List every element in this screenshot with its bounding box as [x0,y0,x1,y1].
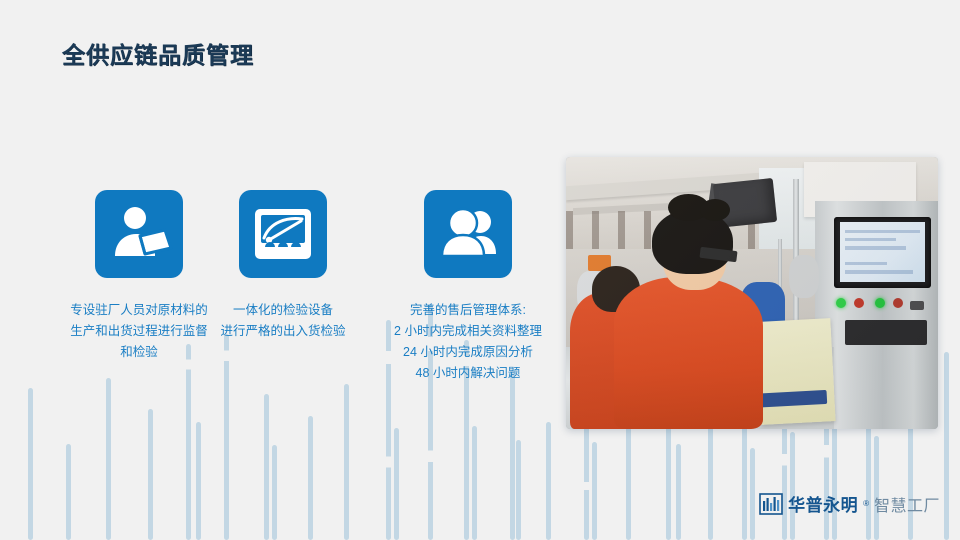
logo-tagline: 智慧工厂 [874,492,940,516]
decor-bar [790,432,795,540]
decor-bar [394,428,399,540]
decor-bar [308,416,313,540]
two-people-icon [424,190,512,278]
decor-bar [148,409,153,540]
decor-bar [196,422,201,540]
feature-caption: 完善的售后管理体系: 2 小时内完成相关资料整理 24 小时内完成原因分析 48… [378,300,558,384]
brand-logo: 华普永明 ® 智慧工厂 [759,491,940,516]
decor-bar [944,352,949,540]
logo-trademark: ® [863,499,869,508]
decor-bar [264,394,269,540]
decor-bar [750,448,755,540]
caption-line: 进行严格的出入货检验 [204,321,362,342]
decor-bar [708,412,713,540]
decor-bar [510,370,515,540]
caption-line: 48 小时内解决问题 [378,363,558,384]
decor-bar [186,344,191,540]
slide-root: 全供应链品质管理 专设驻厂人员对原材料的 生产和出货过程进行监督 和检验 [0,0,960,540]
decor-bar [874,436,879,540]
feature-item-after-sales: 完善的售后管理体系: 2 小时内完成相关资料整理 24 小时内完成原因分析 48… [378,190,558,384]
logo-brand-name: 华普永明 [788,491,858,516]
factory-bars-logo-icon [759,493,783,515]
photo-content [566,157,938,429]
decor-bar [676,444,681,540]
feature-item-testing-equipment: 一体化的检验设备 进行严格的出入货检验 [204,190,362,342]
page-title: 全供应链品质管理 [62,36,254,70]
decor-bar [344,384,349,540]
feature-caption: 一体化的检验设备 进行严格的出入货检验 [204,300,362,342]
decor-bar [592,442,597,540]
gauge-meter-icon [239,190,327,278]
inspector-person-document-icon [95,190,183,278]
decor-bar [546,422,551,540]
caption-line: 和检验 [29,342,249,363]
decor-bar [28,388,33,540]
factory-inspection-photo [566,157,938,429]
decor-bar [224,334,229,540]
decor-bar [472,426,477,540]
decor-bar [832,418,837,540]
decor-bar [66,444,71,540]
decor-bar [106,378,111,540]
decor-bar [516,440,521,540]
decor-bar [272,445,277,540]
caption-line: 完善的售后管理体系: [378,300,558,321]
caption-line: 一体化的检验设备 [204,300,362,321]
caption-line: 24 小时内完成原因分析 [378,342,558,363]
caption-line: 2 小时内完成相关资料整理 [378,321,558,342]
